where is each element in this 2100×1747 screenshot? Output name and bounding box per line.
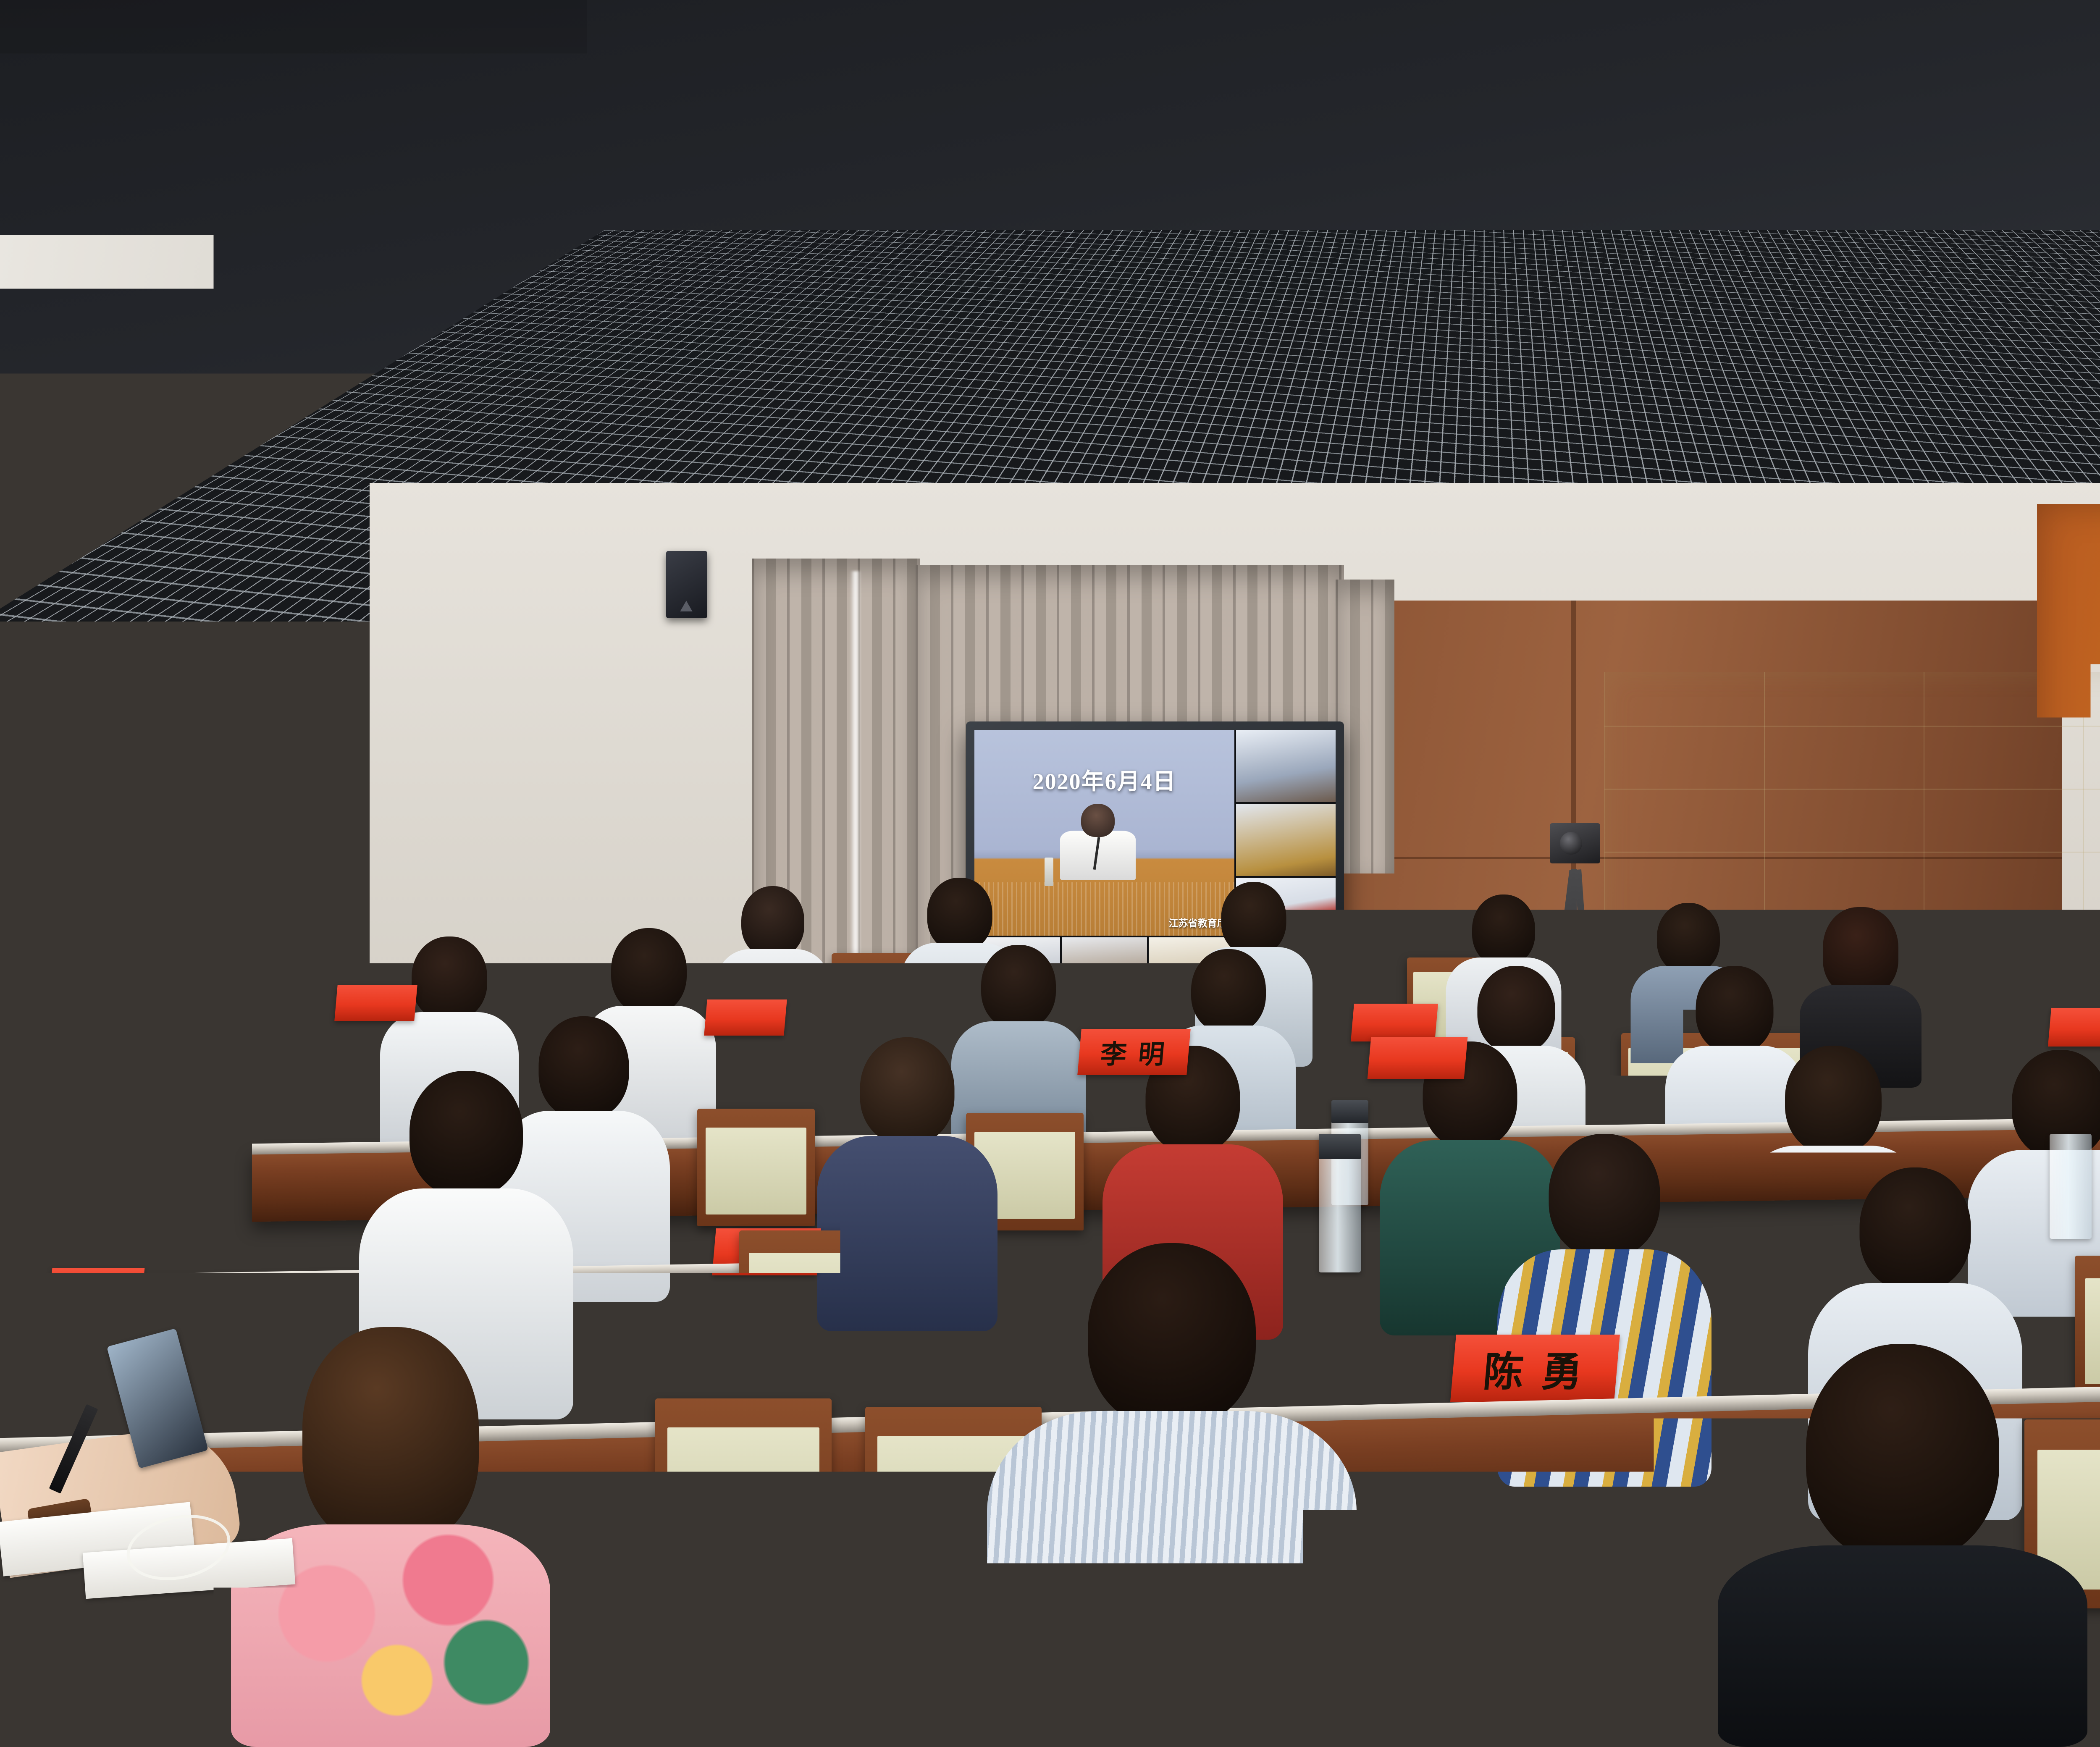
ac-grille — [475, 234, 878, 362]
name-card — [334, 985, 417, 1021]
attendee-head — [1191, 949, 1266, 1033]
wall-poster — [0, 0, 93, 182]
attendee-head — [1696, 966, 1774, 1053]
poster-screw — [7, 9, 12, 13]
name-card: 陈 勇 — [1450, 1335, 1620, 1402]
name-card — [137, 1172, 228, 1212]
attendee-head — [1657, 903, 1720, 973]
camera-lens-icon — [1560, 832, 1582, 855]
audience-chair[interactable] — [697, 1109, 815, 1226]
speaker-brand-logo — [680, 601, 692, 611]
poster-text-line — [8, 76, 83, 84]
attendee-head — [1549, 1134, 1660, 1258]
attendee-head — [981, 945, 1056, 1029]
audience-chair[interactable] — [739, 1230, 878, 1369]
attendee-head — [1965, 966, 2042, 1053]
remote-site-thumbnail[interactable] — [1236, 730, 1336, 802]
name-card — [49, 1268, 145, 1310]
poster-text-line — [10, 100, 57, 108]
window-transom — [0, 580, 349, 591]
video-camera — [1550, 823, 1600, 863]
attendee-head — [409, 1071, 523, 1197]
curtain-light-gap — [850, 571, 861, 1008]
attendee-head — [1785, 1046, 1882, 1154]
bottle-cap — [1319, 1134, 1361, 1159]
attendee — [210, 915, 340, 1134]
attendee-head — [860, 1037, 955, 1144]
attendee-head — [239, 915, 312, 1004]
attendee-head — [1221, 882, 1286, 955]
poster-banner — [27, 17, 82, 36]
attendee-head — [302, 1327, 479, 1545]
attendee-head — [1823, 907, 1898, 995]
name-card — [1351, 1004, 1438, 1041]
poster-text-line — [15, 62, 68, 70]
audience-chair[interactable] — [655, 1398, 832, 1579]
chair-upholstery — [706, 1128, 807, 1215]
name-card: 李 明 — [1077, 1029, 1191, 1075]
attendee — [714, 886, 832, 1062]
speaker-head — [1081, 804, 1115, 837]
attendee-head — [1088, 1243, 1256, 1428]
chair-upholstery — [749, 1253, 868, 1355]
glass-mug — [2050, 1134, 2092, 1239]
attendee-head — [1860, 1167, 1971, 1291]
curtain-left — [370, 517, 546, 1000]
attendee-head — [611, 928, 687, 1014]
attendee-head — [1478, 966, 1555, 1053]
attendee-head — [412, 936, 487, 1020]
attendee-head — [741, 886, 804, 957]
name-card — [1368, 1037, 1468, 1079]
broadcast-date-caption: 2020年6月4日 — [974, 763, 1234, 796]
chair-upholstery — [667, 1427, 819, 1561]
poster-text-line — [12, 87, 51, 95]
wall-speaker-icon — [666, 551, 707, 618]
name-card — [704, 999, 787, 1036]
poster-text-line — [8, 51, 82, 59]
attendee-head — [88, 999, 172, 1094]
attendee-head — [113, 924, 186, 1006]
remote-site-thumbnail[interactable] — [1236, 804, 1336, 876]
poster-screw — [79, 8, 84, 12]
speaker-water-bottle — [1045, 858, 1053, 887]
curtain-right — [1336, 580, 1394, 873]
attendee-torso — [212, 995, 338, 1134]
attendee-head — [927, 878, 992, 951]
name-card — [2048, 1008, 2100, 1047]
attendee-head — [1806, 1344, 1999, 1562]
poster-screw — [10, 167, 14, 172]
poster-screw — [81, 166, 86, 171]
party-emblem-icon — [9, 12, 29, 37]
flask-cap — [1331, 1100, 1368, 1123]
conference-room-photo: 2020年6月4日 江苏省教育厅 — [0, 0, 2100, 1747]
attendee-head — [1472, 894, 1535, 966]
